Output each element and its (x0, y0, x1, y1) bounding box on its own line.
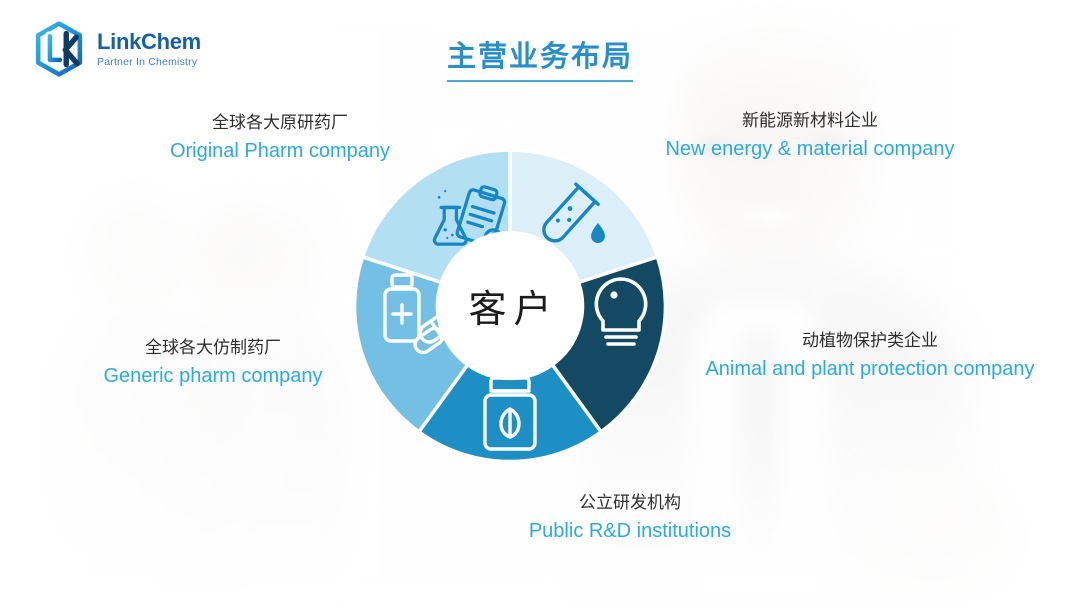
callout-public-rd-cn: 公立研发机构 (470, 492, 790, 515)
callout-public-rd-en: Public R&D institutions (470, 518, 790, 545)
slide-canvas: LinkChem Partner In Chemistry 主营业务布局 (0, 0, 1080, 607)
callout-animal-plant[interactable]: 动植物保护类企业 Animal and plant protection com… (670, 330, 1070, 383)
callout-animal-plant-en: Animal and plant protection company (670, 356, 1070, 383)
donut-center-label: 客户 (461, 278, 558, 333)
callout-generic-pharm[interactable]: 全球各大仿制药厂 Generic pharm company (78, 337, 348, 390)
donut-center-hub: 客户 (437, 232, 583, 378)
callout-animal-plant-cn: 动植物保护类企业 (670, 330, 1070, 353)
callout-new-energy-en: New energy & material company (640, 136, 980, 163)
slide-title-area: 主营业务布局 (0, 33, 1080, 82)
callout-original-pharm-cn: 全球各大原研药厂 (130, 112, 430, 135)
callout-public-rd[interactable]: 公立研发机构 Public R&D institutions (470, 492, 790, 545)
callout-new-energy[interactable]: 新能源新材料企业 New energy & material company (640, 110, 980, 163)
callout-original-pharm-en: Original Pharm company (130, 138, 430, 165)
page-title: 主营业务布局 (447, 33, 633, 82)
callout-original-pharm[interactable]: 全球各大原研药厂 Original Pharm company (130, 112, 430, 165)
business-layout-donut-chart: 客户 (330, 125, 690, 485)
callout-generic-pharm-cn: 全球各大仿制药厂 (78, 337, 348, 360)
callout-generic-pharm-en: Generic pharm company (78, 363, 348, 390)
callout-new-energy-cn: 新能源新材料企业 (640, 110, 980, 133)
